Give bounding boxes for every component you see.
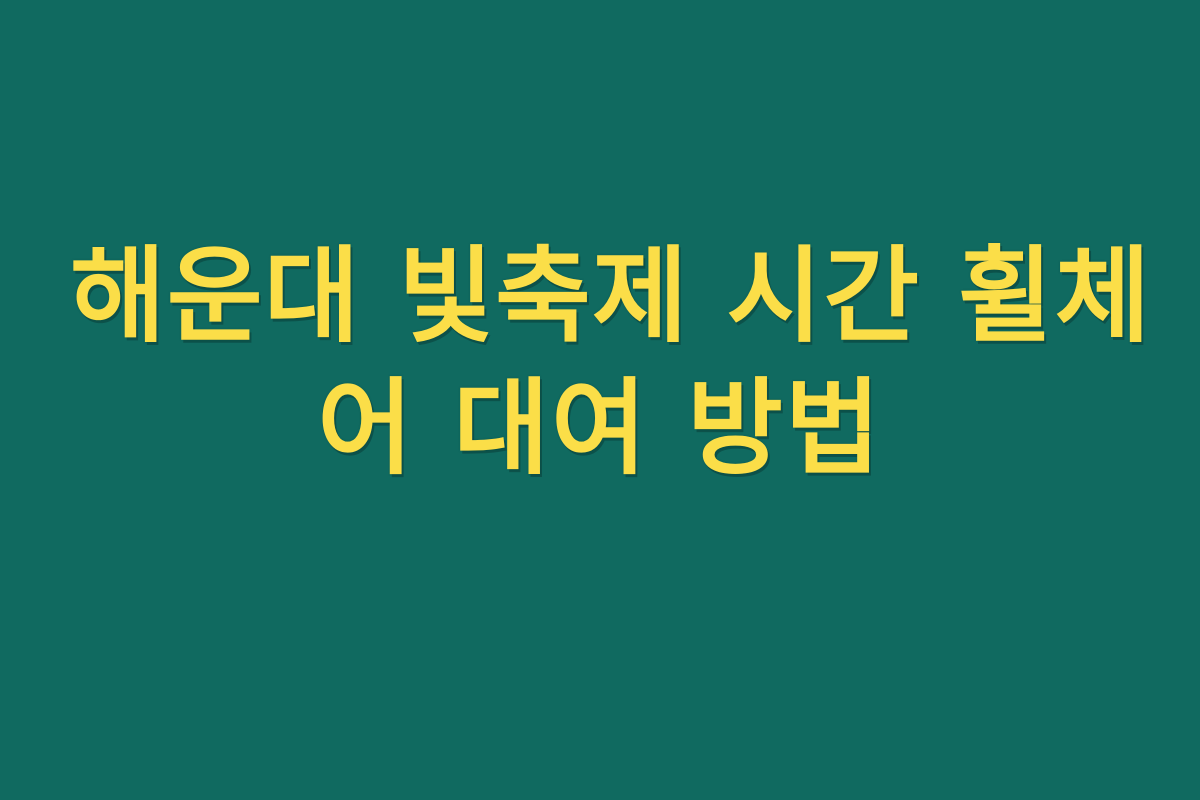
headline-block: 해운대 빛축제 시간 휠체 어 대여 방법 xyxy=(70,230,1130,494)
thumbnail-canvas: 해운대 빛축제 시간 휠체 어 대여 방법 xyxy=(0,0,1200,800)
headline-line-2: 어 대여 방법 xyxy=(70,362,1130,494)
headline-line-1: 해운대 빛축제 시간 휠체 xyxy=(70,230,1130,362)
